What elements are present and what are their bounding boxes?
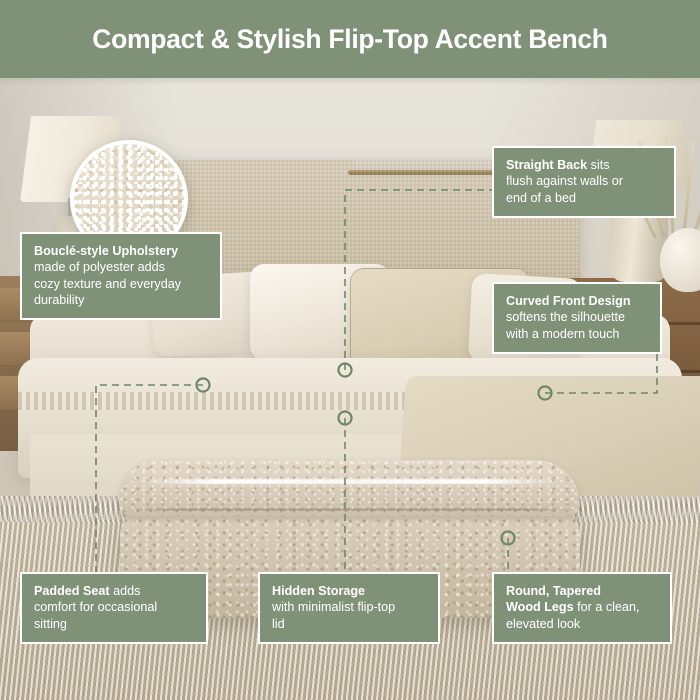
callout-padded-seat-line: sitting [34, 616, 194, 632]
callout-curved-front-line: with a modern touch [506, 326, 648, 342]
callout-hidden-storage-title: Hidden Storage [272, 584, 365, 598]
callout-hidden-storage-line: lid [272, 616, 426, 632]
callout-curved-front-line: softens the silhouette [506, 309, 648, 325]
callout-upholstery: Bouclé-style Upholstery made of polyeste… [20, 232, 222, 320]
callout-upholstery-line: cozy texture and everyday [34, 276, 208, 292]
callout-straight-back-title: Straight Back [506, 158, 587, 172]
callout-padded-seat-line: comfort for occasional [34, 599, 194, 615]
callout-padded-seat-title: Padded Seat [34, 584, 110, 598]
callout-hidden-storage-line: with minimalist flip-top [272, 599, 426, 615]
callout-upholstery-line: made of polyester adds [34, 259, 208, 275]
infographic-page: Compact & Stylish Flip-Top Accent Bench [0, 0, 700, 700]
leader-straight-back [345, 190, 492, 370]
leader-padded-seat [96, 385, 203, 572]
callout-straight-back: Straight Back sits flush against walls o… [492, 146, 676, 218]
callout-straight-back-line: end of a bed [506, 190, 662, 206]
callout-padded-seat-title-rest: adds [110, 584, 141, 598]
callout-wood-legs-line: elevated look [506, 616, 658, 632]
callout-wood-legs: Round, Tapered Wood Legs for a clean, el… [492, 572, 672, 644]
callout-wood-legs-title-line2: Wood Legs [506, 600, 574, 614]
callout-curved-front-title: Curved Front Design [506, 294, 631, 308]
callout-straight-back-title-rest: sits [587, 158, 609, 172]
callout-upholstery-title: Bouclé-style Upholstery [34, 244, 178, 258]
callout-curved-front: Curved Front Design softens the silhouet… [492, 282, 662, 354]
page-title: Compact & Stylish Flip-Top Accent Bench [92, 24, 607, 55]
callout-padded-seat: Padded Seat adds comfort for occasional … [20, 572, 208, 644]
callout-straight-back-line: flush against walls or [506, 173, 662, 189]
callout-upholstery-line: durability [34, 292, 208, 308]
callout-wood-legs-title-rest: for a clean, [574, 600, 640, 614]
callout-wood-legs-title-line1: Round, Tapered [506, 584, 601, 598]
callout-hidden-storage: Hidden Storage with minimalist flip-top … [258, 572, 440, 644]
header-banner: Compact & Stylish Flip-Top Accent Bench [0, 0, 700, 78]
